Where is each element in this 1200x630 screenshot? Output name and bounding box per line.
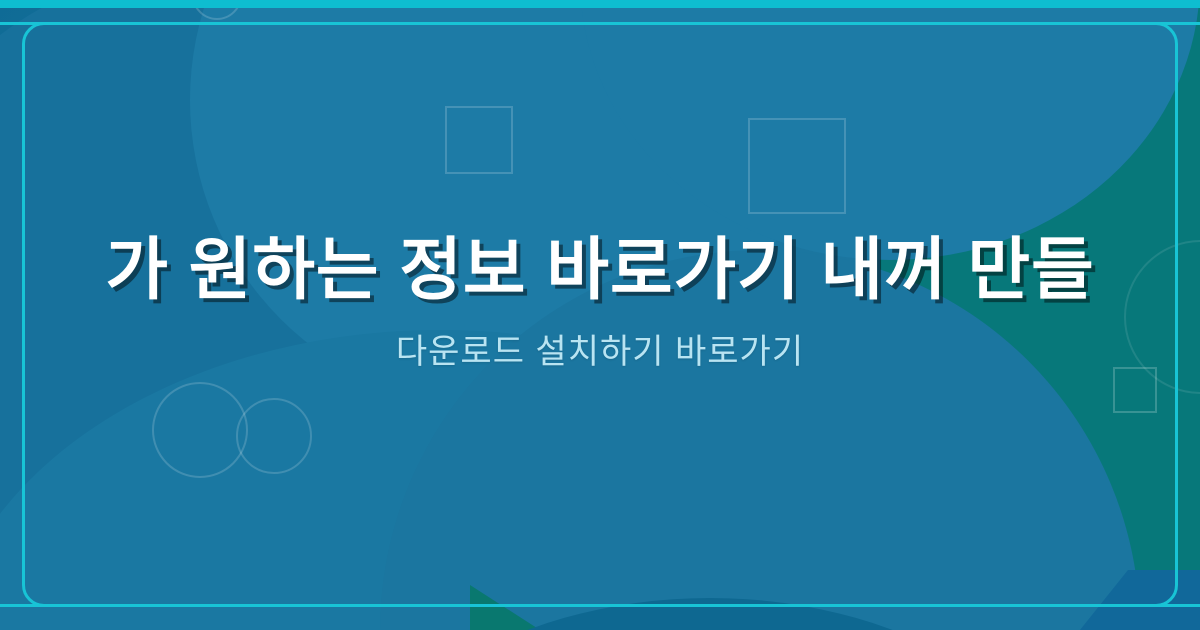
banner-headline: 가 원하는 정보 바로가기 내꺼 만들 <box>105 233 1094 308</box>
banner-text-block: 가 원하는 정보 바로가기 내꺼 만들 다운로드 설치하기 바로가기 <box>0 0 1200 630</box>
banner-subheadline: 다운로드 설치하기 바로가기 <box>396 324 804 373</box>
promo-banner: 가 원하는 정보 바로가기 내꺼 만들 다운로드 설치하기 바로가기 <box>0 0 1200 630</box>
